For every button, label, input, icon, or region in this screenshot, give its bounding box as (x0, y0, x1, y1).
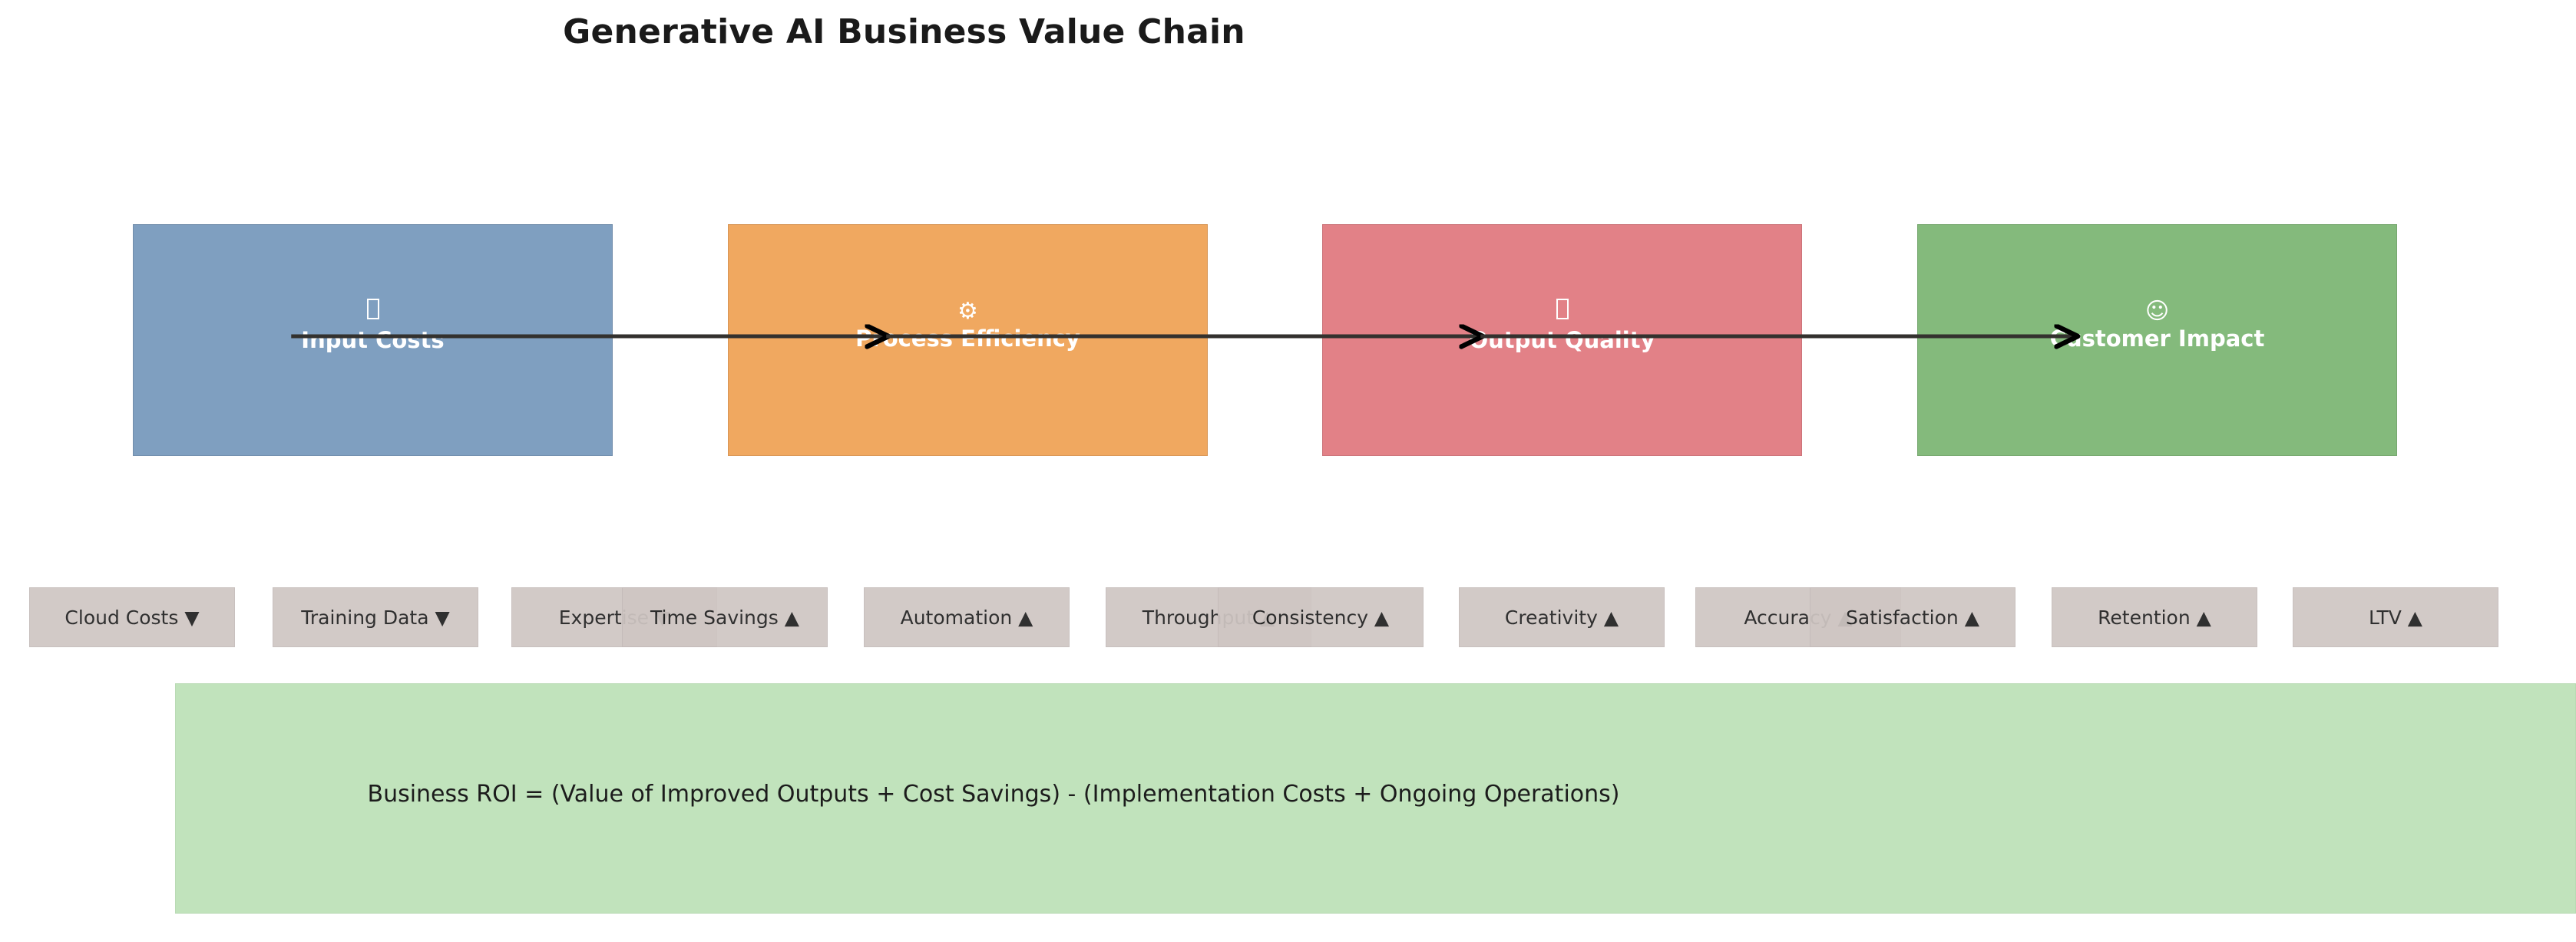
stage-box-input-costs[interactable]: Input Costs (133, 224, 613, 456)
stage-content-input-costs: Input Costs (134, 299, 612, 352)
stage-label-process-efficiency: Process Efficiency (729, 326, 1207, 351)
metric-pill-creativity[interactable]: Creativity ▲ (1459, 587, 1665, 647)
stage-box-customer-impact[interactable]: ☺Customer Impact (1917, 224, 2397, 456)
metric-label-satisfaction: Satisfaction ▲ (1846, 607, 1979, 629)
missing-glyph-box-icon (367, 299, 379, 319)
diagram-canvas: Generative AI Business Value Chain Input… (0, 0, 2576, 942)
stage-content-customer-impact: ☺Customer Impact (1918, 299, 2396, 351)
metric-pill-consistency[interactable]: Consistency ▲ (1218, 587, 1424, 647)
metric-label-consistency: Consistency ▲ (1252, 607, 1389, 629)
stage-label-customer-impact: Customer Impact (1918, 326, 2396, 351)
page-title: Generative AI Business Value Chain (0, 12, 1808, 51)
metric-label-creativity: Creativity ▲ (1505, 607, 1619, 629)
gear-icon: ⚙ (729, 299, 1207, 325)
metric-label-ltv: LTV ▲ (2369, 607, 2422, 629)
metric-pill-cloud-costs[interactable]: Cloud Costs ▼ (29, 587, 235, 647)
missing-glyph-box-icon (1556, 299, 1569, 319)
metric-pill-retention[interactable]: Retention ▲ (2052, 587, 2257, 647)
roi-formula-band: Business ROI = (Value of Improved Output… (175, 683, 2576, 914)
smiley-face-icon: ☺ (1918, 299, 2396, 325)
metric-pill-ltv[interactable]: LTV ▲ (2293, 587, 2498, 647)
stage-box-process-efficiency[interactable]: ⚙Process Efficiency (728, 224, 1208, 456)
stage-box-output-quality[interactable]: Output Quality (1322, 224, 1802, 456)
metric-pill-training-data[interactable]: Training Data ▼ (273, 587, 478, 647)
metric-label-automation: Automation ▲ (901, 607, 1033, 629)
metric-label-cloud-costs: Cloud Costs ▼ (64, 607, 199, 629)
stage-label-output-quality: Output Quality (1323, 328, 1801, 352)
roi-formula-text: Business ROI = (Value of Improved Output… (176, 781, 1811, 808)
stage-content-process-efficiency: ⚙Process Efficiency (729, 299, 1207, 351)
stage-label-input-costs: Input Costs (134, 328, 612, 352)
metric-pill-automation[interactable]: Automation ▲ (864, 587, 1070, 647)
metric-label-training-data: Training Data ▼ (301, 607, 449, 629)
stage-content-output-quality: Output Quality (1323, 299, 1801, 352)
metric-pill-time-savings[interactable]: Time Savings ▲ (622, 587, 828, 647)
metric-label-retention: Retention ▲ (2098, 607, 2211, 629)
metric-label-time-savings: Time Savings ▲ (650, 607, 799, 629)
metric-pill-satisfaction[interactable]: Satisfaction ▲ (1810, 587, 2015, 647)
